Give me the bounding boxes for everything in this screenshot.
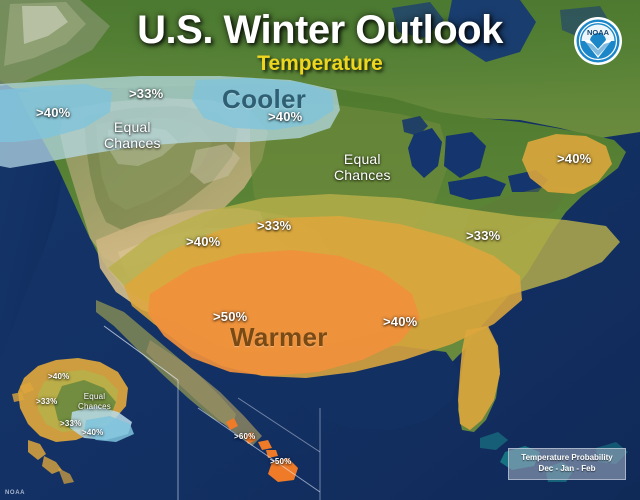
probability-label-40-cooler: >40%	[82, 429, 103, 438]
noaa-watermark: NOAA	[5, 490, 25, 496]
legend-line-1: Temperature Probability	[521, 453, 612, 464]
page-title: U.S. Winter Outlook	[0, 8, 640, 53]
probability-label-50-warm: >50%	[270, 458, 291, 467]
equal-chances-label: Equal Chances	[334, 152, 391, 183]
equal-chances-label: Equal Chances	[104, 120, 161, 151]
equal-chances-label: Equal Chances	[78, 392, 111, 411]
noaa-logo-text: NOAA	[587, 28, 610, 37]
probability-label-33-warm: >33%	[36, 398, 57, 407]
probability-label-40-warm: >40%	[557, 152, 591, 167]
probability-label-40-warm: >40%	[48, 373, 69, 382]
page-subtitle: Temperature	[0, 52, 640, 76]
probability-label-33-warm: >33%	[257, 219, 291, 234]
probability-label-33-warm: >33%	[466, 229, 500, 244]
probability-label-40-warm: >40%	[186, 235, 220, 250]
legend-line-2: Dec - Jan - Feb	[539, 464, 596, 475]
zone-label-warmer: Warmer	[230, 322, 328, 353]
probability-label-50-warm: >50%	[213, 310, 247, 325]
probability-label-40-warm: >40%	[383, 315, 417, 330]
probability-label-40-cooler: >40%	[36, 106, 70, 121]
probability-label-40-cooler: >40%	[268, 110, 302, 125]
winter-outlook-map: U.S. Winter Outlook Temperature NOAA Coo…	[0, 0, 640, 500]
noaa-logo-icon: NOAA	[573, 16, 623, 66]
probability-label-33-cooler: >33%	[129, 87, 163, 102]
legend-box: Temperature Probability Dec - Jan - Feb	[508, 448, 626, 480]
probability-label-33-cooler: >33%	[60, 420, 81, 429]
probability-label-60-warm: >60%	[234, 433, 255, 442]
